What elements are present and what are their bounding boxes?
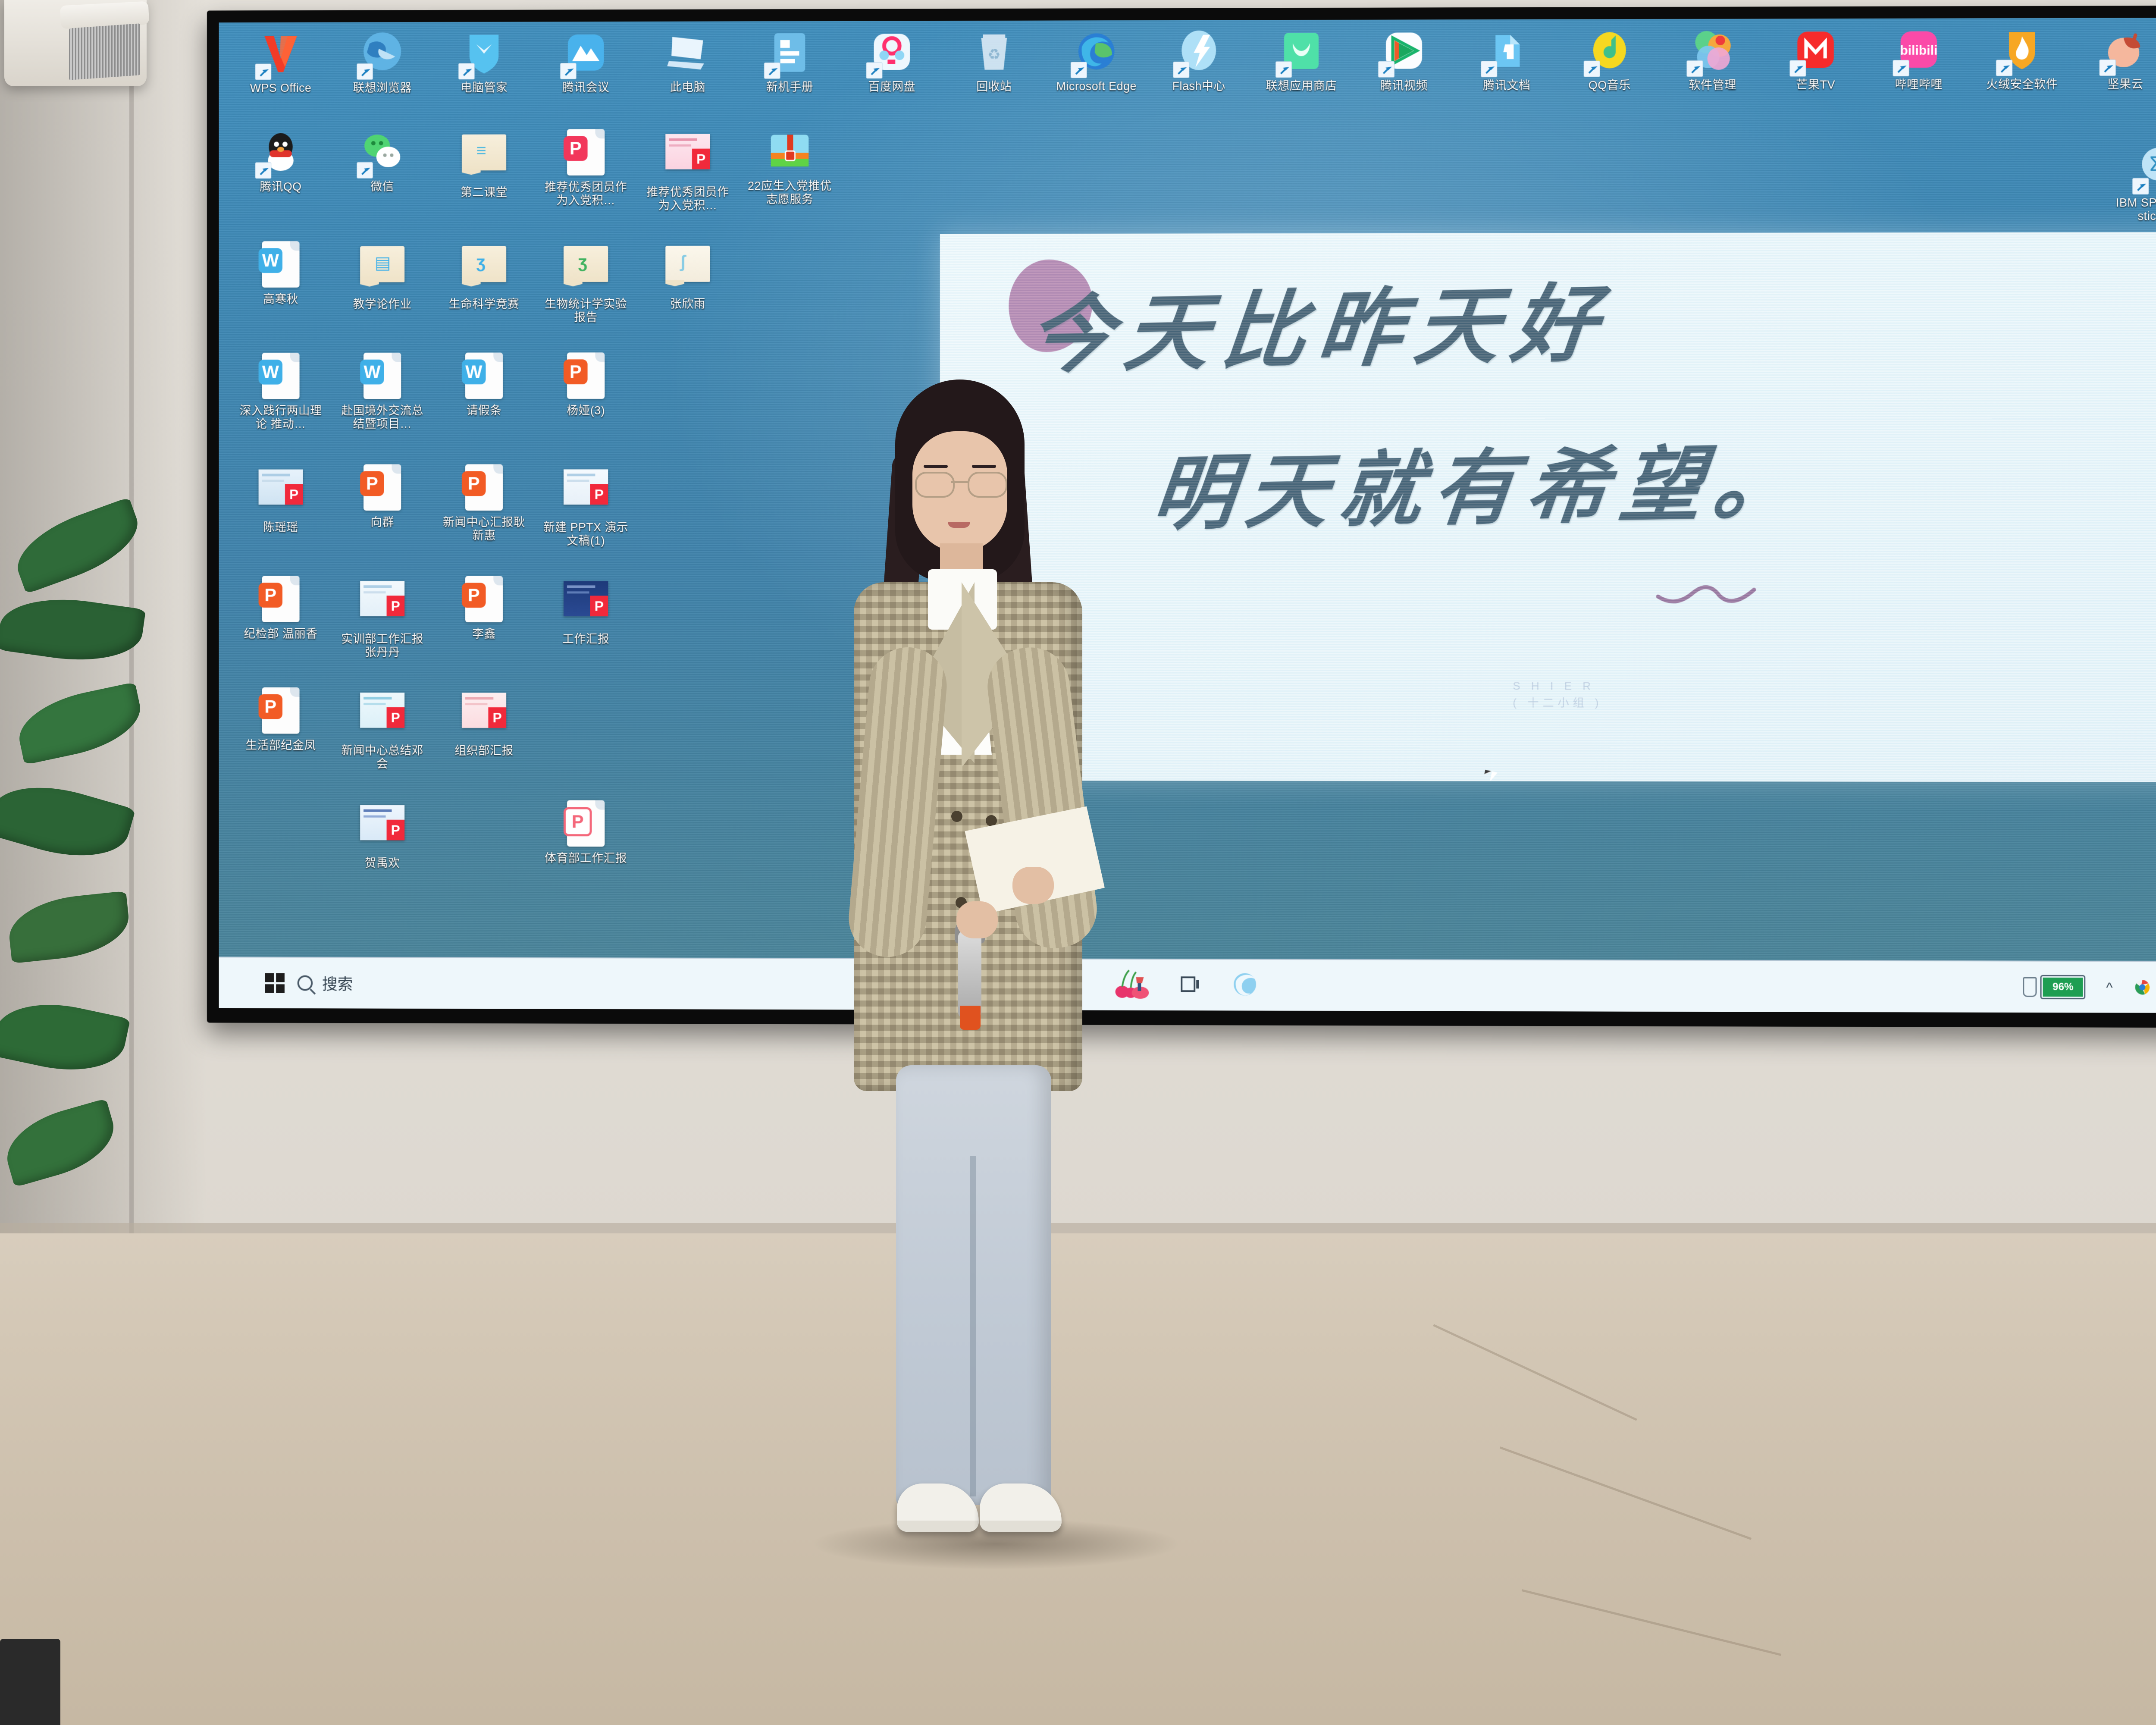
shortcut-overlay-icon xyxy=(1481,61,1497,77)
desktop-icon-organization-dept-report[interactable]: P 组织部汇报 xyxy=(439,687,529,757)
word-doc-icon: W xyxy=(460,353,508,401)
desktop-icon-new-device-manual[interactable]: 新机手册 xyxy=(745,29,835,94)
desktop-icon-baidu-netdisk[interactable]: 百度网盘 xyxy=(847,28,937,94)
icon-label: QQ音乐 xyxy=(1564,78,1655,92)
desktop-icon-gao-hanqiu[interactable]: W 高寒秋 xyxy=(236,240,326,306)
desktop-icon-tencent-meeting[interactable]: 腾讯会议 xyxy=(541,29,630,94)
shortcut-overlay-icon xyxy=(1173,62,1189,78)
classroom-scene: WPS Office 联想浏览器 电脑管家 xyxy=(0,0,2156,1725)
start-button[interactable] xyxy=(265,973,285,993)
ppt-doc-icon: P xyxy=(460,464,508,512)
wps-office-icon xyxy=(257,30,305,78)
icon-label: 新闻中心汇报耿新惠 xyxy=(439,516,529,542)
desktop-icon-pc-manager[interactable]: 电脑管家 xyxy=(439,29,529,94)
desktop-icon-overseas-exchange-summary[interactable]: W 赴国境外交流总结暨项目… xyxy=(338,352,427,431)
desktop-icon-recommend-member-1[interactable]: P 推荐优秀团员作为入党积… xyxy=(541,128,630,207)
desktop-icon-qq-music[interactable]: QQ音乐 xyxy=(1564,27,1655,92)
shortcut-overlay-icon xyxy=(2132,178,2149,194)
word-doc-icon: W xyxy=(257,241,305,289)
folder-icon: ʒ xyxy=(460,246,508,295)
ppt-doc-icon: P xyxy=(562,352,610,401)
desktop-icon-xiang-qun[interactable]: P 向群 xyxy=(338,464,427,529)
desktop-icon-tencent-video[interactable]: 腾讯视频 xyxy=(1359,27,1449,92)
slide-subtitle-en: S H I E R xyxy=(1513,677,1602,694)
shortcut-overlay-icon xyxy=(1893,60,1909,76)
slide-squiggle xyxy=(1655,578,1798,604)
app-tray-icon[interactable] xyxy=(2134,978,2152,996)
icon-label: 推荐优秀团员作为入党积… xyxy=(541,181,630,207)
shortcut-overlay-icon xyxy=(255,162,272,179)
search-input[interactable]: 搜索 xyxy=(298,972,353,994)
battery-status[interactable]: 96% xyxy=(2023,975,2086,1000)
software-manager-icon xyxy=(1688,27,1736,75)
ppt-thumb-icon: P xyxy=(664,134,711,182)
icon-label: WPS Office xyxy=(236,82,326,95)
desktop-icon-biostatistics-report[interactable]: ʒ 生物统计学实验报告 xyxy=(541,240,630,324)
icon-label: 组织部汇报 xyxy=(439,744,529,758)
icon-label: 新建 PPTX 演示文稿(1) xyxy=(541,521,630,547)
icon-label: 22应生入党推优志愿服务 xyxy=(745,179,835,206)
desktop-icon-life-dept-ji-jinfeng[interactable]: P 生活部纪金凤 xyxy=(236,687,326,752)
zip-folder-icon xyxy=(766,128,814,176)
ppt-doc-icon: P xyxy=(460,576,508,624)
mouse-cursor xyxy=(1484,770,1491,775)
desktop-icon-new-pptx-1[interactable]: P 新建 PPTX 演示文稿(1) xyxy=(541,463,630,547)
shortcut-overlay-icon xyxy=(357,162,373,179)
right-hand xyxy=(1012,867,1054,904)
flash-center-icon xyxy=(1175,28,1223,76)
desktop-icon-flash-center[interactable]: Flash中心 xyxy=(1153,28,1244,93)
shortcut-overlay-icon xyxy=(1789,60,1806,76)
desktop-icon-tencent-docs[interactable]: 腾讯文档 xyxy=(1461,27,1552,92)
desktop-icon-chen-yaoyao[interactable]: P 陈瑶瑶 xyxy=(236,464,326,534)
icon-label: 李鑫 xyxy=(439,627,529,641)
ppt-thumb-icon: P xyxy=(358,693,406,741)
icon-label: 软件管理 xyxy=(1667,78,1758,92)
desktop-icon-this-pc[interactable]: 此电脑 xyxy=(643,29,733,94)
desktop-icon-leave-request[interactable]: W 请假条 xyxy=(439,352,529,417)
icon-label: 腾讯QQ xyxy=(236,180,326,194)
ppt-doc-icon: P xyxy=(562,800,610,849)
desktop-icon-teaching-homework[interactable]: ▤ 教学论作业 xyxy=(338,240,427,311)
tencent-meeting-icon xyxy=(562,29,610,78)
ppt-thumb-icon: P xyxy=(257,470,305,517)
icon-label: 火绒安全软件 xyxy=(1977,78,2068,91)
lenovo-app-store-icon xyxy=(1277,28,1326,76)
display-screen[interactable]: WPS Office 联想浏览器 电脑管家 xyxy=(219,17,2156,1014)
word-doc-icon: W xyxy=(257,353,305,401)
glasses xyxy=(915,472,1006,494)
left-hand xyxy=(956,901,998,938)
icon-label: 深入践行两山理论 推动… xyxy=(236,404,326,430)
icon-label: 请假条 xyxy=(439,404,529,417)
tencent-docs-icon xyxy=(1482,27,1531,75)
svg-text:bilibili: bilibili xyxy=(1900,44,1937,58)
desktop-icon-software-manager[interactable]: 软件管理 xyxy=(1667,27,1758,92)
slide-ink-blob xyxy=(1009,260,1092,352)
shortcut-overlay-icon xyxy=(1584,61,1600,77)
desktop-icon-party-volunteer-archive[interactable]: 22应生入党推优志愿服务 xyxy=(745,128,835,206)
desktop-icon-wechat[interactable]: 微信 xyxy=(338,129,427,193)
folder-icon: ≡ xyxy=(460,135,508,183)
ppt-doc-icon: P xyxy=(358,464,406,512)
shortcut-overlay-icon xyxy=(458,63,475,79)
icon-label: 赴国境外交流总结暨项目… xyxy=(338,404,427,430)
desktop-icon-huorong-security[interactable]: 火绒安全软件 xyxy=(1977,26,2068,91)
desktop-icon-second-classroom[interactable]: ≡ 第二课堂 xyxy=(439,129,529,199)
desktop-icon-lenovo-browser[interactable]: 联想浏览器 xyxy=(338,30,427,95)
icon-label: Flash中心 xyxy=(1153,79,1244,93)
shortcut-overlay-icon xyxy=(1686,60,1703,77)
icon-label: 此电脑 xyxy=(643,81,733,94)
icon-label: 百度网盘 xyxy=(847,80,937,94)
icon-label: 联想浏览器 xyxy=(338,82,427,95)
icon-label: 纪检部 温丽香 xyxy=(236,627,326,641)
icon-label: 体育部工作汇报 xyxy=(541,852,630,865)
slide-subtitle: S H I E R ( 十二小组 ) xyxy=(1513,677,1602,711)
icon-label: 联想应用商店 xyxy=(1256,79,1347,93)
icon-label: 坚果云 xyxy=(2080,78,2156,91)
slide-line-1: 今天比昨天好 xyxy=(1023,246,2031,390)
tencent-video-icon xyxy=(1380,27,1428,75)
desktop-icon-two-mountains-theory[interactable]: W 深入践行两山理论 推动… xyxy=(236,352,326,431)
ppt-thumb-icon: P xyxy=(460,693,508,741)
ceiling-projector xyxy=(4,0,147,86)
microphone-tip xyxy=(960,1006,981,1030)
chevron-up-icon[interactable]: ^ xyxy=(2100,978,2118,996)
word-doc-icon: W xyxy=(358,353,406,401)
presenter xyxy=(832,379,1151,1561)
desktop-icon-wps-office[interactable]: WPS Office xyxy=(236,30,326,95)
ppt-thumb-icon: P xyxy=(562,581,610,629)
wall-display: WPS Office 联想浏览器 电脑管家 xyxy=(207,5,2156,1028)
search-placeholder: 搜索 xyxy=(322,972,353,994)
battery-percent: 96% xyxy=(2043,978,2083,997)
ppt-doc-icon: P xyxy=(257,687,305,736)
svg-text:♻: ♻ xyxy=(987,47,1000,63)
desktop-icon-li-xin[interactable]: P 李鑫 xyxy=(439,575,529,640)
icon-label: 贺禹欢 xyxy=(338,856,427,870)
desktop-icon-microsoft-edge[interactable]: Microsoft Edge xyxy=(1051,28,1141,93)
desktop-icon-recycle-bin[interactable]: ♻ 回收站 xyxy=(949,28,1039,94)
ppt-thumb-icon: P xyxy=(358,805,406,853)
icon-label: 芒果TV xyxy=(1770,78,1861,91)
icon-label: 微信 xyxy=(338,180,427,193)
plant-pot xyxy=(0,1639,60,1725)
mango-tv-icon xyxy=(1791,26,1840,75)
qq-music-icon xyxy=(1586,27,1634,75)
desktop-icon-discipline-dept-wen-lixiang[interactable]: P 纪检部 温丽香 xyxy=(236,575,326,640)
taskbar-task-view[interactable] xyxy=(1179,974,1201,997)
desktop-icon-sports-dept-report[interactable]: P 体育部工作汇报 xyxy=(541,799,630,865)
svg-text:Σ: Σ xyxy=(2149,152,2156,176)
icon-label: 新闻中心总结邓会 xyxy=(338,744,427,770)
wechat-icon xyxy=(358,129,406,177)
shortcut-overlay-icon xyxy=(1071,62,1087,78)
taskbar-edge-browser[interactable] xyxy=(1232,971,1258,1000)
desktop-icon-work-report[interactable]: P 工作汇报 xyxy=(541,575,630,646)
ppt-doc-icon: P xyxy=(257,576,305,624)
power-plug-icon xyxy=(2023,977,2037,997)
icon-label: 电脑管家 xyxy=(439,81,529,94)
desktop-icon-mango-tv[interactable]: 芒果TV xyxy=(1770,26,1861,92)
desktop-icon-zhang-xinyu[interactable]: ʃ 张欣雨 xyxy=(643,240,733,310)
icon-label: Microsoft Edge xyxy=(1051,80,1141,93)
desktop-icon-news-center-summary-deng-hui[interactable]: P 新闻中心总结邓会 xyxy=(338,687,427,771)
nutstore-icon xyxy=(2101,25,2150,74)
shortcut-overlay-icon xyxy=(560,63,577,79)
icon-label: 工作汇报 xyxy=(541,633,630,646)
desktop-icon-lenovo-app-store[interactable]: 联想应用商店 xyxy=(1256,28,1347,93)
icon-label: 教学论作业 xyxy=(338,298,427,311)
lenovo-browser-icon xyxy=(358,30,406,78)
baidu-netdisk-icon xyxy=(868,28,916,77)
ibm-spss-icon: Σα+ xyxy=(2134,144,2156,193)
icon-label: 实训部工作汇报张丹丹 xyxy=(338,633,427,659)
shortcut-overlay-icon xyxy=(1378,61,1395,78)
icon-label: 腾讯文档 xyxy=(1461,79,1552,92)
pc-manager-icon xyxy=(460,30,508,78)
icon-label: 张欣雨 xyxy=(643,297,733,310)
icon-label: 杨娅(3) xyxy=(541,404,630,417)
ppt-thumb-icon: P xyxy=(358,581,406,629)
slide-subtitle-cn: ( 十二小组 ) xyxy=(1513,694,1602,711)
shortcut-overlay-icon xyxy=(764,63,780,79)
desktop-icon-bilibili[interactable]: bilibili 哔哩哔哩 xyxy=(1873,26,1964,91)
icon-label: 回收站 xyxy=(949,80,1039,93)
shortcut-overlay-icon xyxy=(255,64,272,80)
new-device-manual-icon xyxy=(766,29,814,77)
folder-icon: ▤ xyxy=(358,246,406,295)
icon-label: 生物统计学实验报告 xyxy=(541,298,630,324)
recycle-bin-icon: ♻ xyxy=(970,28,1018,77)
shortcut-overlay-icon xyxy=(1275,61,1292,78)
shortcut-overlay-icon xyxy=(866,62,883,78)
icon-label: 向群 xyxy=(338,516,427,529)
search-icon xyxy=(298,975,313,991)
desktop-icon-life-science-contest[interactable]: ʒ 生命科学竞赛 xyxy=(439,240,529,311)
icon-label: IBM SPSS Statistics 27 xyxy=(2113,196,2156,223)
icon-label: 生命科学竞赛 xyxy=(439,298,529,311)
tencent-qq-icon xyxy=(257,129,305,177)
folder-icon: ʒ xyxy=(562,246,610,294)
icon-label: 新机手册 xyxy=(745,80,835,94)
shortcut-overlay-icon xyxy=(2100,60,2116,76)
desktop-icon-recommend-member-2[interactable]: P 推荐优秀团员作为入党积… xyxy=(643,128,733,212)
this-pc-icon xyxy=(664,29,711,77)
desktop-icon-yangya-3[interactable]: P 杨娅(3) xyxy=(541,351,630,417)
projector-vent-grill xyxy=(69,23,140,80)
potted-plant xyxy=(0,509,185,1242)
slide-line-2: 明天就有希望。 xyxy=(1148,410,2156,546)
icon-label: 腾讯视频 xyxy=(1359,79,1449,92)
icon-label: 哔哩哔哩 xyxy=(1873,78,1964,91)
icon-label: 高寒秋 xyxy=(236,293,326,306)
icon-label: 生活部纪金凤 xyxy=(236,739,326,752)
shortcut-overlay-icon xyxy=(1996,60,2012,76)
desktop-icon-ibm-spss[interactable]: Σα+ IBM SPSS Statistics 27 xyxy=(2113,144,2156,223)
desktop-icon-tencent-qq[interactable]: 腾讯QQ xyxy=(236,129,326,193)
desktop-icon-news-center-report[interactable]: P 新闻中心汇报耿新惠 xyxy=(439,463,529,542)
microphone xyxy=(958,931,981,1018)
folder-icon: ʃ xyxy=(664,246,711,294)
ppt-thumb-icon: P xyxy=(562,469,610,517)
taskbar[interactable]: 搜索 96% xyxy=(219,957,2156,1013)
desktop-icon-he-yuhuan[interactable]: P 贺禹欢 xyxy=(338,799,427,870)
icon-label: 陈瑶瑶 xyxy=(236,521,326,534)
huorong-security-icon xyxy=(1998,26,2046,75)
bilibili-icon: bilibili xyxy=(1894,26,1943,75)
icon-label: 腾讯会议 xyxy=(541,81,630,94)
icon-label: 第二课堂 xyxy=(439,186,529,199)
icon-label: 推荐优秀团员作为入党积… xyxy=(643,185,733,212)
desktop-icon-nutstore[interactable]: 坚果云 xyxy=(2080,25,2156,91)
microsoft-edge-icon xyxy=(1072,28,1121,76)
pdf-doc-icon: P xyxy=(562,129,610,177)
desktop-icon-training-dept-report-zhang-dandan[interactable]: P 实训部工作汇报张丹丹 xyxy=(338,575,427,659)
shortcut-overlay-icon xyxy=(357,63,373,80)
